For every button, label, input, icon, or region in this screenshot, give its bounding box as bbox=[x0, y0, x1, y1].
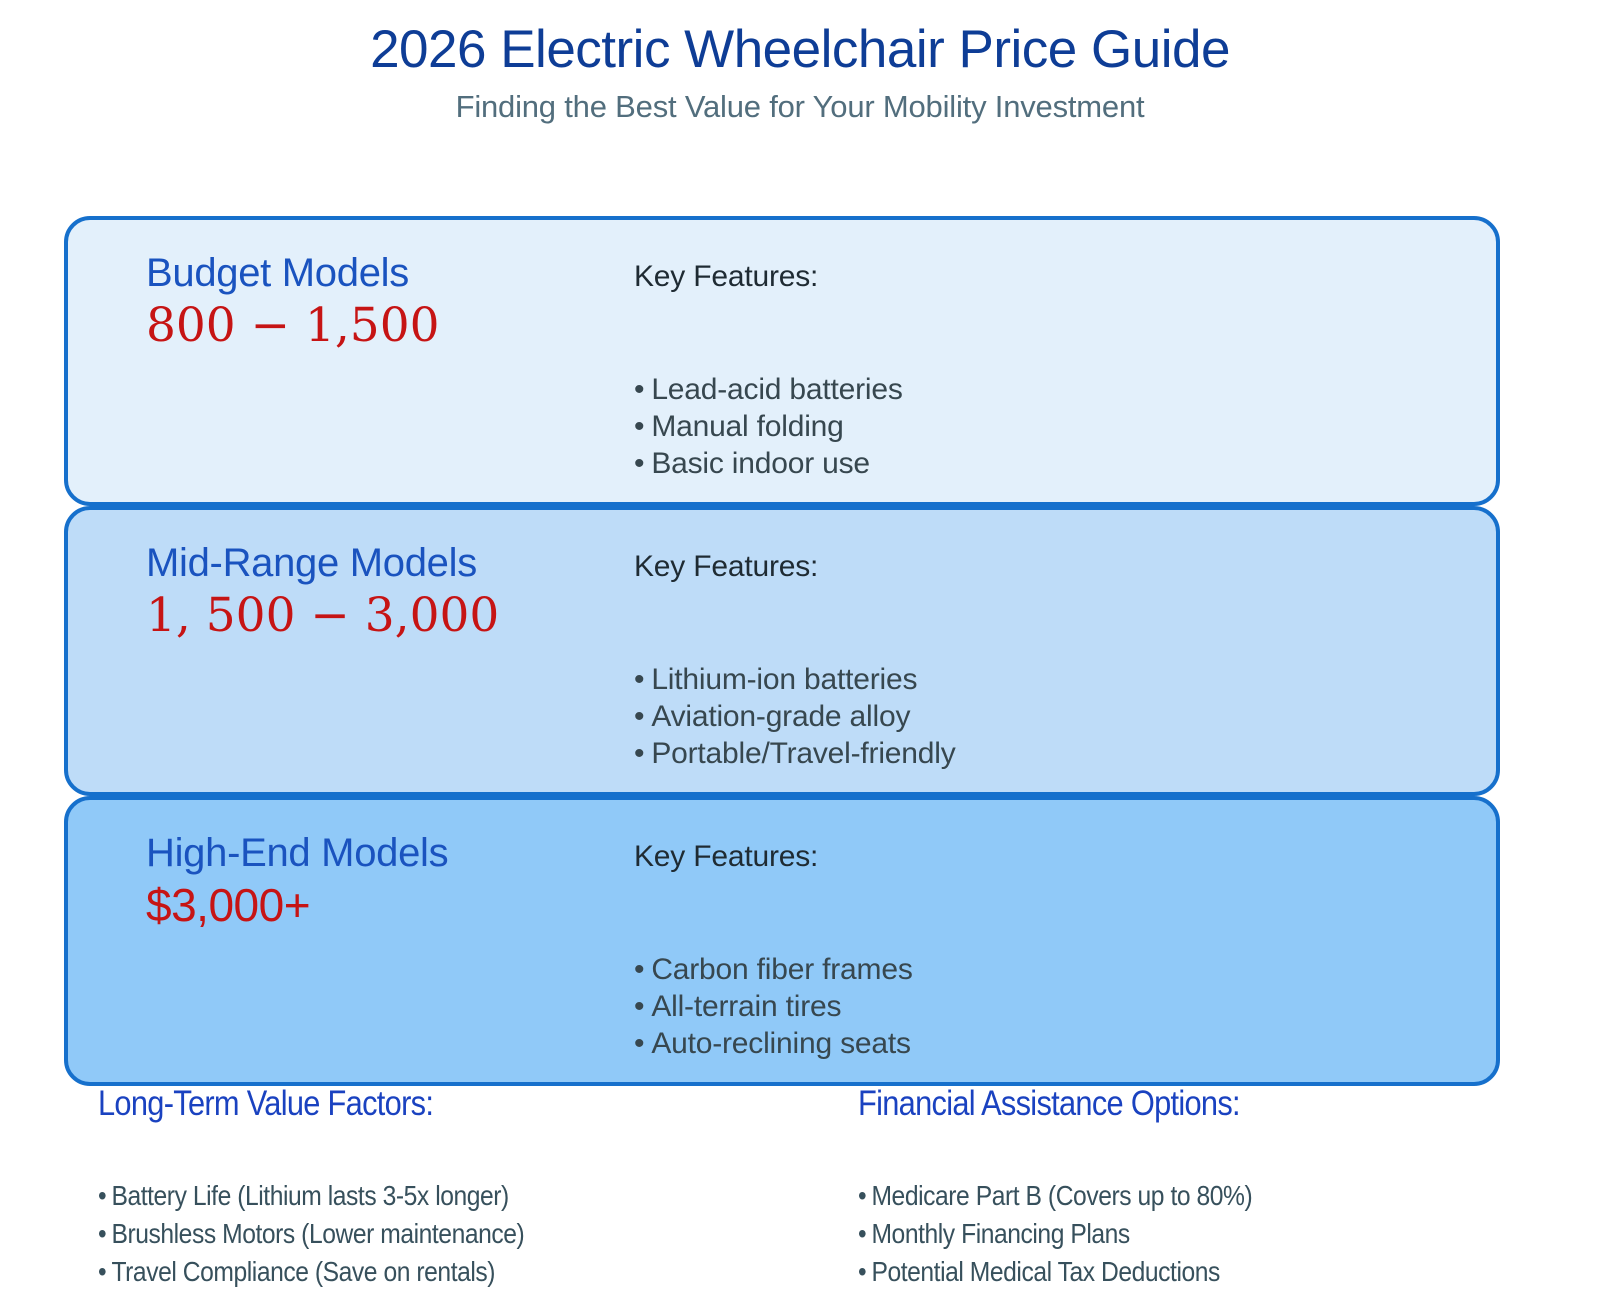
tier-card-budget: Budget Models 800 − 1,500 Key Features: … bbox=[64, 216, 1500, 506]
feature-text: Aviation-grade alloy bbox=[651, 700, 910, 733]
feature-text: Manual folding bbox=[651, 410, 843, 443]
list-item: •Potential Medical Tax Deductions bbox=[858, 1253, 1474, 1291]
features-heading: Key Features: bbox=[634, 840, 1434, 873]
bullet-icon: • bbox=[634, 700, 644, 733]
page-subtitle: Finding the Best Value for Your Mobility… bbox=[0, 89, 1600, 125]
section-heading: Financial Assistance Options: bbox=[858, 1085, 1474, 1124]
list-item: •Medicare Part B (Covers up to 80%) bbox=[858, 1177, 1474, 1215]
list-item: •Basic indoor use bbox=[634, 447, 1434, 480]
features-list: •Lithium-ion batteries •Aviation-grade a… bbox=[634, 663, 1434, 770]
list-item: •Lead-acid batteries bbox=[634, 373, 1434, 406]
list-item: •Aviation-grade alloy bbox=[634, 700, 1434, 733]
feature-text: Carbon fiber frames bbox=[651, 953, 912, 986]
tier-name: Mid-Range Models bbox=[146, 540, 616, 586]
tier-summary: Budget Models 800 − 1,500 bbox=[146, 250, 616, 353]
assistance-option-text: Monthly Financing Plans bbox=[871, 1218, 1129, 1249]
value-factor-text: Travel Compliance (Save on rentals) bbox=[111, 1256, 495, 1287]
feature-text: Portable/Travel-friendly bbox=[651, 737, 955, 770]
feature-text: Lead-acid batteries bbox=[651, 373, 902, 406]
bullet-icon: • bbox=[98, 1253, 106, 1291]
bullet-icon: • bbox=[634, 410, 644, 443]
financial-assistance-section: Financial Assistance Options: •Medicare … bbox=[858, 1085, 1558, 1292]
bullet-icon: • bbox=[858, 1253, 866, 1291]
tier-summary: High-End Models $3,000+ bbox=[146, 830, 616, 932]
list-item: •Brushless Motors (Lower maintenance) bbox=[98, 1215, 714, 1253]
bullet-icon: • bbox=[634, 737, 644, 770]
features-heading: Key Features: bbox=[634, 550, 1434, 583]
feature-text: Basic indoor use bbox=[651, 447, 870, 480]
tier-card-high-end: High-End Models $3,000+ Key Features: •C… bbox=[64, 796, 1500, 1086]
feature-text: All-terrain tires bbox=[651, 990, 841, 1023]
tier-name: High-End Models bbox=[146, 830, 616, 876]
tier-name: Budget Models bbox=[146, 250, 616, 296]
bullet-icon: • bbox=[634, 373, 644, 406]
bullet-icon: • bbox=[634, 663, 644, 696]
features-list: •Lead-acid batteries •Manual folding •Ba… bbox=[634, 373, 1434, 480]
list-item: •Manual folding bbox=[634, 410, 1434, 443]
bullet-icon: • bbox=[858, 1215, 866, 1253]
list-item: •Lithium-ion batteries bbox=[634, 663, 1434, 696]
tier-card-mid-range: Mid-Range Models 1, 500 − 3,000 Key Feat… bbox=[64, 506, 1500, 796]
bullet-icon: • bbox=[858, 1177, 866, 1215]
assistance-option-text: Medicare Part B (Covers up to 80%) bbox=[871, 1180, 1252, 1211]
assistance-options-list: •Medicare Part B (Covers up to 80%) •Mon… bbox=[858, 1177, 1558, 1292]
bullet-icon: • bbox=[634, 990, 644, 1023]
bullet-icon: • bbox=[634, 953, 644, 986]
tier-price-range: 800 − 1,500 bbox=[146, 298, 616, 353]
features-list: •Carbon fiber frames •All-terrain tires … bbox=[634, 953, 1434, 1060]
bullet-icon: • bbox=[98, 1177, 106, 1215]
list-item: •Portable/Travel-friendly bbox=[634, 737, 1434, 770]
list-item: •Monthly Financing Plans bbox=[858, 1215, 1474, 1253]
tier-features: Key Features: •Lead-acid batteries •Manu… bbox=[634, 260, 1434, 484]
tier-features: Key Features: •Lithium-ion batteries •Av… bbox=[634, 550, 1434, 774]
bullet-icon: • bbox=[634, 1027, 644, 1060]
list-item: •All-terrain tires bbox=[634, 990, 1434, 1023]
list-item: •Battery Life (Lithium lasts 3-5x longer… bbox=[98, 1177, 714, 1215]
list-item: •Travel Compliance (Save on rentals) bbox=[98, 1253, 714, 1291]
value-factors-list: •Battery Life (Lithium lasts 3-5x longer… bbox=[98, 1177, 798, 1292]
tier-price-range: $3,000+ bbox=[146, 878, 616, 932]
bullet-icon: • bbox=[98, 1215, 106, 1253]
assistance-option-text: Potential Medical Tax Deductions bbox=[871, 1256, 1219, 1287]
value-factor-text: Battery Life (Lithium lasts 3-5x longer) bbox=[111, 1180, 508, 1211]
page-title: 2026 Electric Wheelchair Price Guide bbox=[0, 20, 1600, 81]
tier-features: Key Features: •Carbon fiber frames •All-… bbox=[634, 840, 1434, 1064]
long-term-value-section: Long-Term Value Factors: •Battery Life (… bbox=[98, 1085, 798, 1292]
list-item: •Auto-reclining seats bbox=[634, 1027, 1434, 1060]
features-heading: Key Features: bbox=[634, 260, 1434, 293]
infographic-header: 2026 Electric Wheelchair Price Guide Fin… bbox=[0, 20, 1600, 125]
bullet-icon: • bbox=[634, 447, 644, 480]
section-heading: Long-Term Value Factors: bbox=[98, 1085, 714, 1124]
tier-price-range: 1, 500 − 3,000 bbox=[146, 588, 616, 643]
value-factor-text: Brushless Motors (Lower maintenance) bbox=[111, 1218, 524, 1249]
list-item: •Carbon fiber frames bbox=[634, 953, 1434, 986]
feature-text: Auto-reclining seats bbox=[651, 1027, 910, 1060]
tier-summary: Mid-Range Models 1, 500 − 3,000 bbox=[146, 540, 616, 643]
feature-text: Lithium-ion batteries bbox=[651, 663, 917, 696]
